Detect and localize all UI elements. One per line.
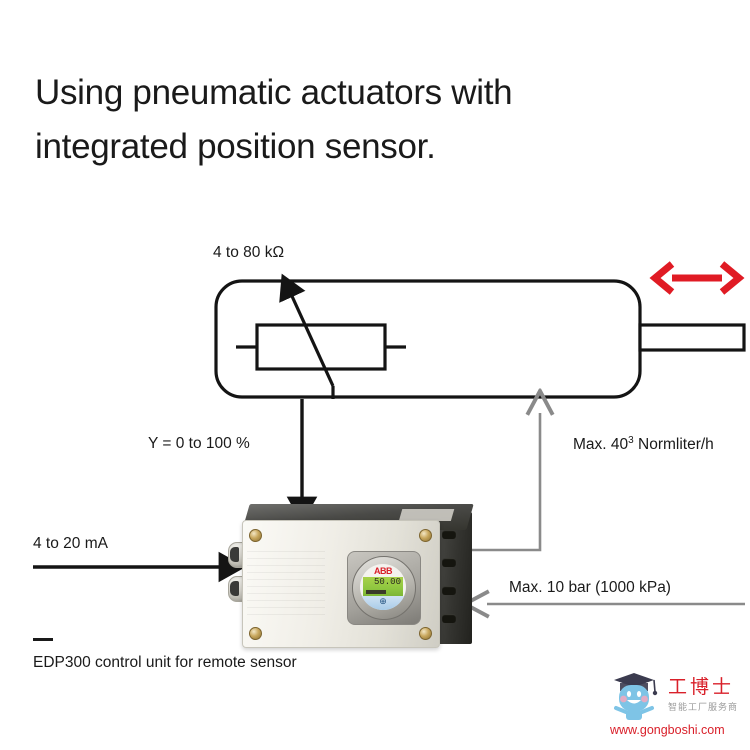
device-housing-ribs bbox=[247, 551, 325, 621]
display-ring: ABB 50.00 ⊕ bbox=[352, 556, 416, 620]
keypad-navigation-icon: ⊕ bbox=[362, 597, 404, 606]
lcd-screen: 50.00 bbox=[363, 577, 403, 596]
pneumatic-port-1 bbox=[442, 530, 456, 539]
label-air-flow-prefix: Max. 40 bbox=[573, 436, 628, 453]
label-resistance-range: 4 to 80 kΩ bbox=[213, 245, 284, 261]
housing-screw-top-right bbox=[419, 529, 432, 542]
travel-direction-arrow bbox=[655, 264, 739, 292]
label-current-input: 4 to 20 mA bbox=[33, 536, 108, 552]
display-bezel: ABB 50.00 ⊕ bbox=[347, 551, 421, 625]
housing-screw-top-left bbox=[249, 529, 262, 542]
lcd-position-value: 50.00 bbox=[363, 578, 401, 587]
pneumatic-port-2 bbox=[442, 558, 456, 567]
caption-text: EDP300 control unit for remote sensor bbox=[33, 655, 297, 671]
caption: EDP300 control unit for remote sensor bbox=[33, 638, 297, 671]
edp300-device-photo: ABB 50.00 ⊕ bbox=[228, 498, 482, 654]
label-travel-range: Y = 0 to 100 % bbox=[148, 436, 250, 452]
label-air-flow-rate: Max. 403 Normliter/h bbox=[573, 436, 714, 453]
pneumatic-port-3 bbox=[442, 586, 456, 595]
watermark-tagline: 智能工厂服务商 bbox=[668, 703, 738, 712]
watermark: 工博士 智能工厂服务商 www.gongboshi.com bbox=[604, 662, 746, 746]
lcd-bargraph bbox=[366, 590, 386, 594]
diagram-page: Using pneumatic actuators with integrate… bbox=[0, 0, 750, 750]
caption-rule bbox=[33, 638, 53, 641]
mascot-icon bbox=[608, 666, 664, 722]
actuator-rod bbox=[640, 325, 744, 350]
label-air-flow-suffix: Normliter/h bbox=[634, 436, 714, 453]
device-housing: ABB 50.00 ⊕ bbox=[242, 520, 440, 648]
watermark-url: www.gongboshi.com bbox=[610, 724, 725, 737]
watermark-brand: 工博士 bbox=[668, 678, 734, 697]
pneumatic-port-4 bbox=[442, 614, 456, 623]
display-face: ABB 50.00 ⊕ bbox=[360, 564, 406, 610]
label-supply-pressure: Max. 10 bar (1000 kPa) bbox=[509, 580, 671, 596]
keypad-area[interactable]: ⊕ bbox=[362, 596, 404, 610]
abb-logo: ABB bbox=[360, 567, 406, 576]
housing-screw-bottom-right bbox=[419, 627, 432, 640]
air-supply-path bbox=[472, 413, 540, 550]
